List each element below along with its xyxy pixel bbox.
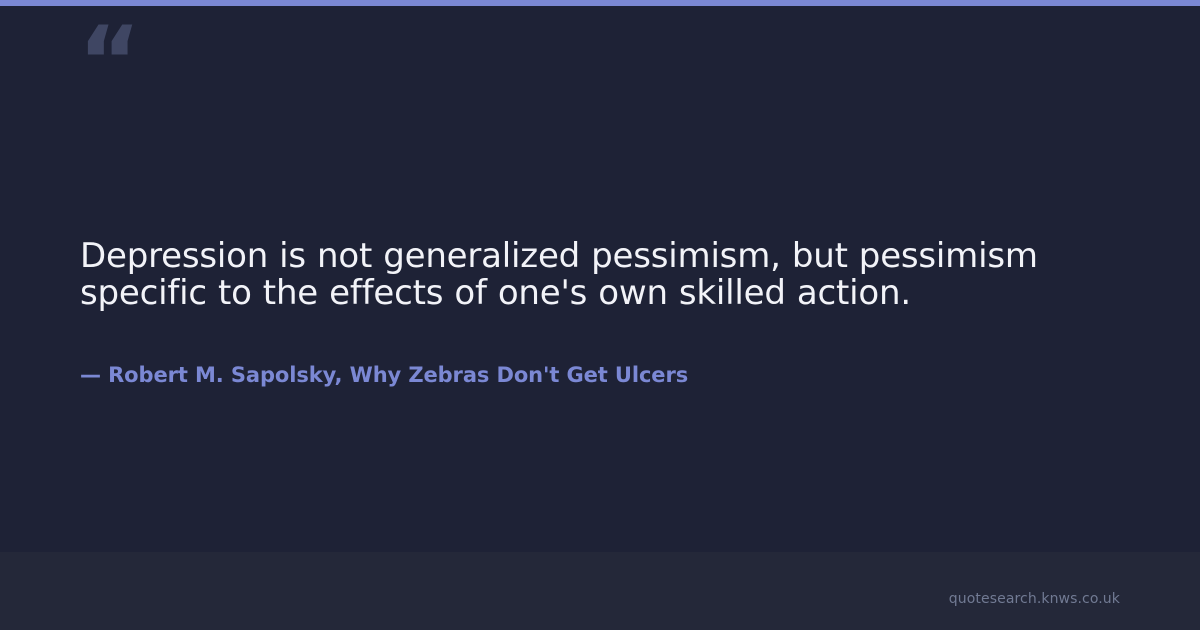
site-url-label: quotesearch.knws.co.uk [949, 590, 1120, 608]
quote-attribution: — Robert M. Sapolsky, Why Zebras Don't G… [80, 312, 1124, 388]
quote-text: Depression is not generalized pessimism,… [80, 238, 1124, 312]
quotation-mark-icon: “ [78, 14, 139, 110]
quote-card: “ Depression is not generalized pessimis… [0, 0, 1200, 630]
quote-content: Depression is not generalized pessimism,… [80, 238, 1124, 388]
top-accent-bar [0, 0, 1200, 6]
